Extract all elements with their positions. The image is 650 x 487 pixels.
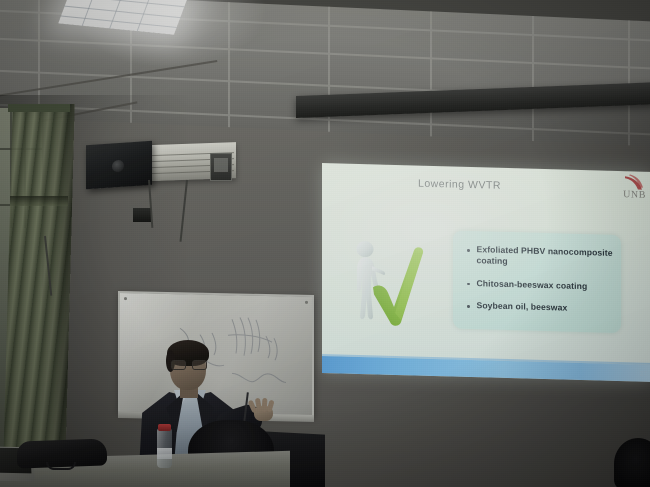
wall-control-box bbox=[210, 153, 232, 181]
curtain-gather bbox=[10, 196, 68, 206]
list-item: Exfoliated PHBV nanocomposite coating bbox=[467, 244, 617, 271]
bullet-dot-icon bbox=[467, 283, 470, 286]
unb-logo: UNB bbox=[608, 174, 648, 205]
bullet-text: Chitosan-beeswax coating bbox=[477, 278, 588, 292]
slide-callout-box: Exfoliated PHBV nanocomposite coating Ch… bbox=[453, 231, 621, 334]
bullet-text: Soybean oil, beeswax bbox=[477, 300, 568, 314]
curtain-rod bbox=[8, 104, 70, 112]
bullet-dot-icon bbox=[467, 249, 470, 252]
bullet-text: Exfoliated PHBV nanocomposite coating bbox=[477, 244, 618, 270]
water-bottle-label bbox=[157, 448, 172, 459]
list-item: Chitosan-beeswax coating bbox=[467, 278, 617, 293]
window-curtain bbox=[3, 104, 74, 464]
water-bottle-cap bbox=[158, 424, 171, 431]
slide-title: Lowering WVTR bbox=[418, 178, 501, 192]
wall-outlet bbox=[133, 208, 151, 222]
green-checkmark-icon bbox=[370, 242, 428, 328]
lecture-room-photo: Lowering WVTR UNB bbox=[0, 0, 650, 487]
presenter-hand bbox=[250, 398, 276, 422]
loudspeaker-box bbox=[86, 141, 152, 190]
eyeglasses-icon bbox=[171, 360, 205, 369]
audience-head-right bbox=[614, 438, 650, 487]
whiteboard-screw bbox=[124, 297, 127, 300]
bullet-dot-icon bbox=[467, 305, 470, 308]
projected-slide: Lowering WVTR UNB bbox=[322, 163, 650, 382]
bag-handle bbox=[46, 462, 76, 470]
wall-control-box-face bbox=[214, 158, 228, 172]
slide-bullet-list: Exfoliated PHBV nanocomposite coating Ch… bbox=[467, 244, 617, 326]
slide-page-number: 27 bbox=[640, 371, 647, 378]
list-item: Soybean oil, beeswax bbox=[467, 300, 617, 315]
speaker-cone bbox=[112, 160, 124, 173]
unb-logo-text: UNB bbox=[623, 189, 646, 201]
whiteboard-screw bbox=[305, 301, 308, 304]
